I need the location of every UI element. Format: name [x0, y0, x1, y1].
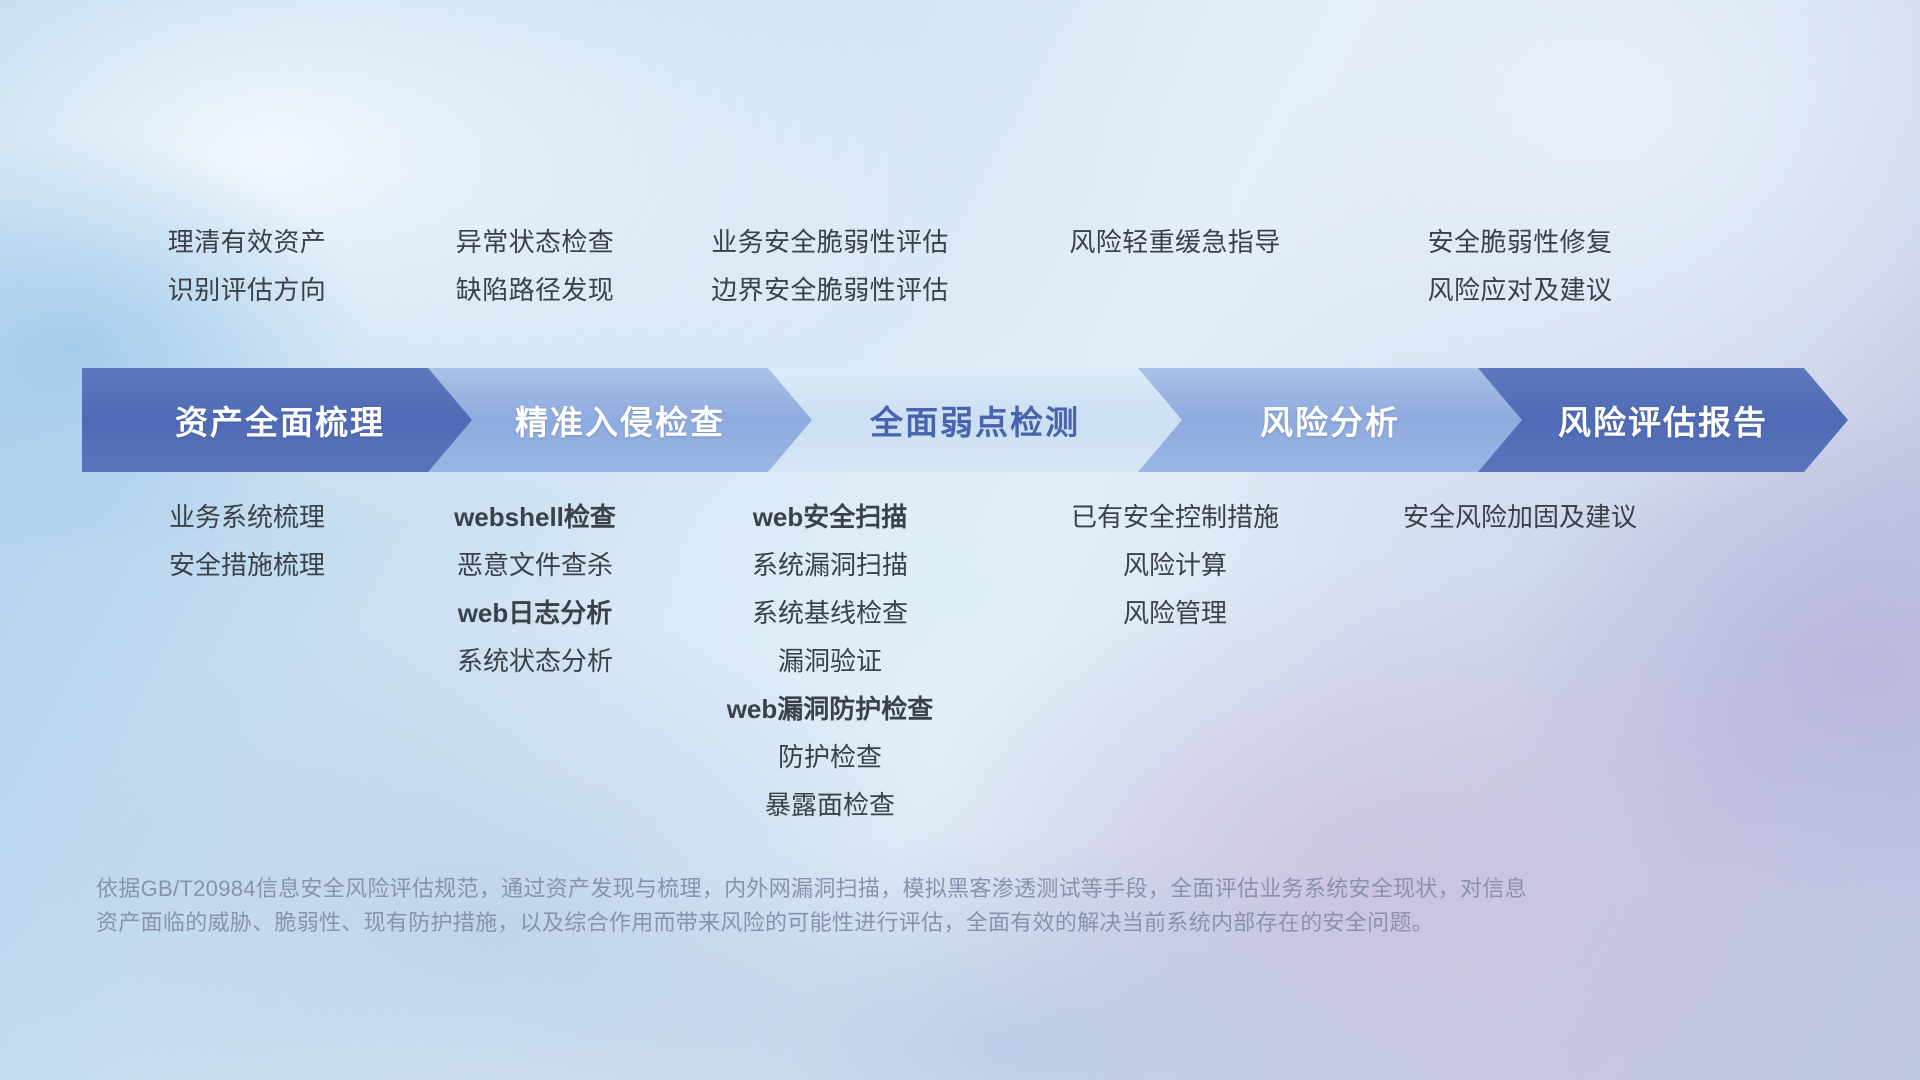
top-label-group-weakness-detection: 业务安全脆弱性评估边界安全脆弱性评估	[650, 226, 1010, 306]
stage-arrow-risk-analysis[interactable]: 风险分析	[1132, 368, 1522, 472]
top-label-group-asset-inventory: 理清有效资产识别评估方向	[82, 226, 412, 306]
bottom-item: 防护检查	[650, 740, 1010, 774]
top-item: 识别评估方向	[82, 274, 412, 306]
stage-arrow-risk-report[interactable]: 风险评估报告	[1472, 368, 1848, 472]
stage-title: 精准入侵检查	[509, 396, 725, 444]
bottom-item: 已有安全控制措施	[1000, 500, 1350, 534]
top-item: 风险应对及建议	[1330, 274, 1710, 306]
bottom-item: 风险管理	[1000, 596, 1350, 630]
bottom-item: 安全风险加固及建议	[1330, 500, 1710, 534]
bottom-list-group-asset-inventory: 业务系统梳理安全措施梳理	[82, 500, 412, 582]
bottom-item: 系统漏洞扫描	[650, 548, 1010, 582]
top-label-group-risk-analysis: 风险轻重缓急指导	[1000, 226, 1350, 258]
top-item: 业务安全脆弱性评估	[650, 226, 1010, 258]
process-diagram: 理清有效资产识别评估方向异常状态检查缺陷路径发现业务安全脆弱性评估边界安全脆弱性…	[0, 0, 1920, 1080]
top-item: 理清有效资产	[82, 226, 412, 258]
top-label-group-risk-report: 安全脆弱性修复风险应对及建议	[1330, 226, 1710, 306]
stage-arrow-weakness-detection[interactable]: 全面弱点检测	[762, 368, 1182, 472]
stage-arrow-intrusion-check[interactable]: 精准入侵检查	[422, 368, 812, 472]
bottom-item: 漏洞验证	[650, 644, 1010, 678]
top-item: 风险轻重缓急指导	[1000, 226, 1350, 258]
stage-title: 全面弱点检测	[864, 396, 1080, 444]
top-item: 安全脆弱性修复	[1330, 226, 1710, 258]
bottom-list-group-risk-report: 安全风险加固及建议	[1330, 500, 1710, 534]
bottom-list-group-risk-analysis: 已有安全控制措施风险计算风险管理	[1000, 500, 1350, 630]
bottom-list-group-weakness-detection: web安全扫描系统漏洞扫描系统基线检查漏洞验证web漏洞防护检查防护检查暴露面检…	[650, 500, 1010, 822]
top-item: 边界安全脆弱性评估	[650, 274, 1010, 306]
stage-title: 风险评估报告	[1552, 396, 1768, 444]
stage-title: 资产全面梳理	[169, 396, 385, 444]
footer-line-1: 依据GB/T20984信息安全风险评估规范，通过资产发现与梳理，内外网漏洞扫描，…	[96, 872, 1836, 906]
bottom-item: 业务系统梳理	[82, 500, 412, 534]
stage-arrow-band: 资产全面梳理精准入侵检查全面弱点检测风险分析风险评估报告	[82, 368, 1848, 472]
bottom-item: web安全扫描	[650, 500, 1010, 534]
bottom-item: web漏洞防护检查	[650, 692, 1010, 726]
bottom-item: 风险计算	[1000, 548, 1350, 582]
stage-arrow-asset-inventory[interactable]: 资产全面梳理	[82, 368, 472, 472]
footer-line-2: 资产面临的威胁、脆弱性、现有防护措施，以及综合作用而带来风险的可能性进行评估，全…	[96, 906, 1836, 940]
bottom-item: 安全措施梳理	[82, 548, 412, 582]
stage-title: 风险分析	[1254, 396, 1400, 444]
footer-description: 依据GB/T20984信息安全风险评估规范，通过资产发现与梳理，内外网漏洞扫描，…	[96, 872, 1836, 940]
bottom-item: 系统基线检查	[650, 596, 1010, 630]
bottom-item: 暴露面检查	[650, 788, 1010, 822]
